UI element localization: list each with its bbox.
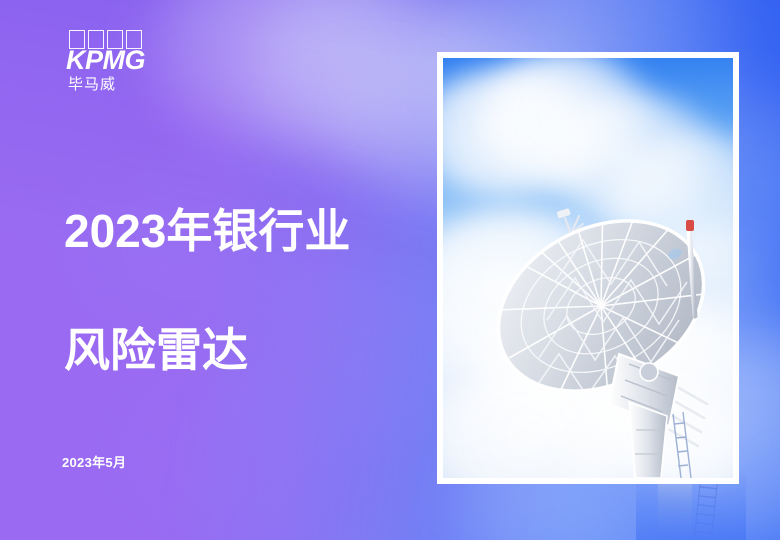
antenna-mast-bleed <box>636 470 746 540</box>
page-title: 2023年银行业 风险雷达 <box>64 142 444 441</box>
page-title-line-1: 2023年银行业 <box>64 202 444 262</box>
satellite-dish-icon <box>443 58 733 478</box>
kpmg-logo: KPMG 毕马威 <box>66 30 186 94</box>
publication-date: 2023年5月 <box>62 452 126 471</box>
satellite-dish-photo <box>443 58 733 478</box>
hero-photo-card <box>443 58 733 478</box>
antenna-mast-fade <box>636 470 746 540</box>
kpmg-wordmark: KPMG <box>66 46 186 75</box>
kpmg-chinese-name: 毕马威 <box>68 76 186 94</box>
page-title-line-2: 风险雷达 <box>64 321 444 381</box>
title-slide: KPMG 毕马威 2023年银行业 风险雷达 2023年5月 <box>0 0 780 540</box>
